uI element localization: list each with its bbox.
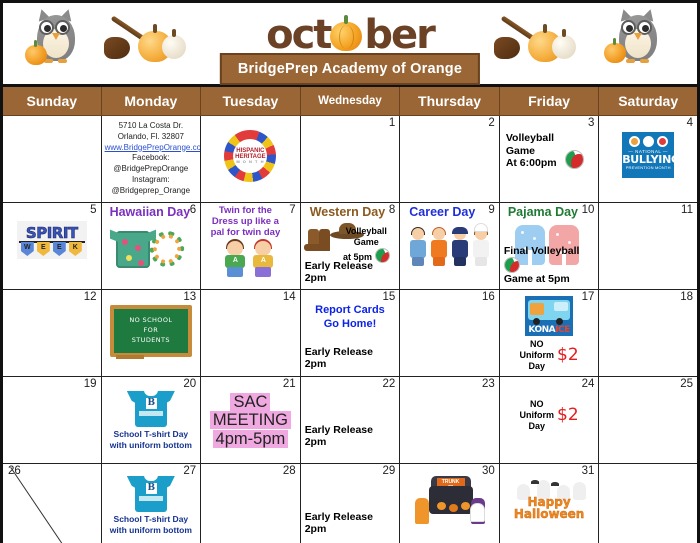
weekday-header-sunday: Sunday (2, 86, 102, 116)
spirit-flag: E (53, 242, 66, 256)
event-note: Final Volleyball (504, 245, 580, 257)
contact-instagram-handle: @Bridgeprep_Orange (105, 186, 198, 197)
contact-address2: Orlando, Fl. 32807 (105, 132, 198, 143)
no-school-line3: STUDENTS (132, 336, 170, 346)
spirit-flag: E (37, 242, 50, 256)
event-line: Volleyball (506, 132, 596, 145)
day-cell-9[interactable]: 9 Career Day (400, 203, 500, 290)
day-cell-25[interactable]: 25 (599, 377, 699, 464)
month-title: octber (266, 15, 434, 55)
spirit-flag: K (69, 242, 82, 256)
event-subnote: Volleyball Game at 5pm (337, 226, 395, 263)
day-cell-2[interactable]: 2 (400, 116, 500, 203)
no-uniform-line: Day (520, 421, 555, 432)
day-cell-school-contact[interactable]: 5710 La Costa Dr. Orlando, Fl. 32807 www… (101, 116, 201, 203)
week-row: 5 SPIRIT W E E K (2, 203, 699, 290)
no-uniform-line: Uniform (520, 410, 555, 421)
event-caption: with uniform bottom (105, 525, 198, 536)
kona-ice-icon: KONAICE (525, 296, 573, 336)
day-cell-24[interactable]: 24 NO Uniform Day $2 (499, 377, 599, 464)
hhm-line3: M O N T H (236, 160, 264, 164)
volleyball-icon (565, 150, 584, 169)
no-uniform-line: Day (520, 361, 555, 372)
hawaiian-shirt-lei-icon (116, 229, 186, 269)
kona-word-b: ICE (555, 325, 570, 335)
event-title: Western Day (304, 206, 397, 220)
owl-pumpkin-icon (615, 9, 661, 65)
day-cell-27[interactable]: 27 B School T-shirt Day with uniform bot… (101, 464, 201, 543)
day-cell-18[interactable]: 18 (599, 290, 699, 377)
bullying-line3: PREVENTION MONTH (622, 165, 674, 170)
contact-facebook-handle: @BridgePrepOrange (105, 164, 198, 175)
day-number: 19 (84, 378, 97, 390)
price-label: $2 (557, 347, 579, 364)
day-number: 14 (283, 291, 296, 303)
national-bullying-prevention-month-icon: — NATIONAL — BULLYING PREVENTION MONTH (622, 132, 674, 178)
day-cell-5[interactable]: 5 SPIRIT W E E K (2, 203, 102, 290)
no-school-line2: FOR (144, 326, 159, 336)
event-note: Game at 5pm (504, 273, 599, 286)
career-people-icon (408, 226, 492, 266)
day-cell-21[interactable]: 21 SAC MEETING 4pm-5pm (201, 377, 301, 464)
calendar-page: octber BridgePrep Academy of Orange (0, 0, 700, 543)
day-cell-28[interactable]: 28 (201, 464, 301, 543)
day-number: 28 (283, 465, 296, 477)
day-cell-13[interactable]: 13 NO SCHOOL FOR STUDENTS (101, 290, 201, 377)
day-number: 12 (84, 291, 97, 303)
spirit-week-top: SPIRIT (17, 224, 87, 242)
calendar-banner: octber BridgePrep Academy of Orange (0, 0, 700, 84)
sac-line: MEETING (210, 411, 291, 429)
no-school-line1: NO SCHOOL (129, 316, 172, 326)
event-title: Career Day (403, 206, 496, 220)
event-note: Early Release (305, 424, 373, 437)
day-cell-3[interactable]: 3 Volleyball Game At 6:00pm (499, 116, 599, 203)
school-tshirt-icon: B (127, 387, 175, 427)
trunk-or-treat-icon: TRUNK or TREAT (413, 476, 487, 524)
day-cell-23[interactable]: 23 (400, 377, 500, 464)
no-uniform-line: Uniform (520, 350, 555, 361)
weekday-header-friday: Friday (499, 86, 599, 116)
weekday-header-monday: Monday (101, 86, 201, 116)
event-caption: with uniform bottom (105, 440, 198, 451)
weekday-header-tuesday: Tuesday (201, 86, 301, 116)
event-caption: School T-shirt Day (105, 429, 198, 440)
weekday-header-wednesday: Wednesday (300, 86, 400, 116)
event-note: 2pm (305, 523, 373, 536)
volleyball-icon (504, 257, 520, 273)
day-cell-empty[interactable] (2, 116, 102, 203)
weekday-header-row: Sunday Monday Tuesday Wednesday Thursday… (2, 86, 699, 116)
week-row: 26 27 B School T-shirt Day with uniform … (2, 464, 699, 543)
day-cell-11[interactable]: 11 (599, 203, 699, 290)
day-cell-16[interactable]: 16 (400, 290, 500, 377)
event-note: Go Home! (304, 318, 397, 332)
school-name-plate: BridgePrep Academy of Orange (220, 53, 480, 85)
day-cell-15[interactable]: 15 Report Cards Go Home! Early Release 2… (300, 290, 400, 377)
no-uniform-line: NO (520, 339, 555, 350)
day-number: 11 (681, 204, 693, 216)
event-note: Early Release (305, 260, 373, 273)
kona-word-a: KONA (528, 325, 555, 335)
event-note: 2pm (305, 436, 373, 449)
bullying-line2: BULLYING (622, 154, 674, 165)
day-number: 23 (482, 378, 495, 390)
event-title: Hawaiian Day (105, 206, 198, 220)
crossed-out-marker (3, 464, 101, 543)
pumpkin-icon (330, 20, 364, 54)
day-cell-12[interactable]: 12 (2, 290, 102, 377)
day-cell-29[interactable]: 29 Early Release 2pm (300, 464, 400, 543)
pumpkin-icon (604, 43, 626, 63)
day-number: 25 (680, 378, 693, 390)
happy-halloween-icon: Happy Halloween (507, 480, 591, 522)
day-cell-30[interactable]: 30 TRUNK or TREAT (400, 464, 500, 543)
day-cell-22[interactable]: 22 Early Release 2pm (300, 377, 400, 464)
contact-website-link[interactable]: www.BridgePrepOrange.com (105, 143, 201, 152)
day-cell-6[interactable]: 6 Hawaiian Day (101, 203, 201, 290)
contact-facebook-label: Facebook: (105, 153, 198, 164)
no-uniform-line: NO (520, 399, 555, 410)
contact-instagram-label: Instagram: (105, 175, 198, 186)
week-row: 12 13 NO SCHOOL FOR STUDENTS (2, 290, 699, 377)
volleyball-icon (375, 248, 390, 263)
event-subnote-line: Volleyball Game (346, 226, 387, 247)
hispanic-heritage-month-icon: HISPANIC HERITAGE M O N T H (224, 130, 276, 182)
day-cell-empty[interactable] (599, 464, 699, 543)
sac-meeting-note: SAC MEETING 4pm-5pm (204, 393, 297, 448)
event-note: Report Cards (304, 304, 397, 318)
spirit-flag: W (21, 242, 34, 256)
sac-line: SAC (230, 393, 270, 411)
day-cell-31[interactable]: 31 Happy (499, 464, 599, 543)
day-number: 16 (482, 291, 495, 303)
event-note: Early Release (305, 346, 373, 359)
day-cell-10[interactable]: 10 Pajama Day Final Volleyball Game at 5… (499, 203, 599, 290)
weekday-header-saturday: Saturday (599, 86, 699, 116)
day-cell-14[interactable]: 14 (201, 290, 301, 377)
event-note: 2pm (305, 272, 373, 285)
school-tshirt-icon: B (127, 472, 175, 512)
week-row: 19 20 B School T-shirt Day with uniform … (2, 377, 699, 464)
day-number: 2 (488, 117, 494, 129)
event-note: Early Release (305, 511, 373, 524)
spirit-week-icon: SPIRIT W E E K (17, 221, 87, 259)
contact-block: 5710 La Costa Dr. Orlando, Fl. 32807 www… (105, 121, 198, 197)
day-cell-8[interactable]: 8 Western Day Volleyball Game at 5pm Ear (300, 203, 400, 290)
twin-kids-icon: A A (218, 241, 282, 277)
day-cell-26[interactable]: 26 (2, 464, 102, 543)
event-caption: School T-shirt Day (105, 514, 198, 525)
week-row: 5710 La Costa Dr. Orlando, Fl. 32807 www… (2, 116, 699, 203)
day-cell-20[interactable]: 20 B School T-shirt Day with uniform bot… (101, 377, 201, 464)
day-cell-19[interactable]: 19 (2, 377, 102, 464)
day-cell-17[interactable]: 17 KONAICE NO Uniform Day $2 (499, 290, 599, 377)
day-cell-7[interactable]: 7 Twin for the Dress up like a pal for t… (201, 203, 301, 290)
day-cell-4[interactable]: 4 — NATIONAL — BULLYING PREVENTION MONTH (599, 116, 699, 203)
day-number: 18 (680, 291, 693, 303)
event-note: 2pm (305, 358, 373, 371)
day-cell-hispanic-heritage[interactable]: HISPANIC HERITAGE M O N T H (201, 116, 301, 203)
calendar-grid: Sunday Monday Tuesday Wednesday Thursday… (0, 84, 700, 543)
price-label: $2 (557, 407, 579, 424)
event-text: Twin for the Dress up like a pal for twi… (206, 206, 285, 239)
contact-address1: 5710 La Costa Dr. (105, 121, 198, 132)
event-title: Pajama Day (503, 206, 596, 220)
weekday-header-thursday: Thursday (400, 86, 500, 116)
day-number: 1 (389, 117, 395, 129)
chalkboard-no-school-icon: NO SCHOOL FOR STUDENTS (110, 305, 192, 357)
halloween-line2: Halloween (514, 507, 585, 521)
day-cell-1[interactable]: 1 (300, 116, 400, 203)
sac-line: 4pm-5pm (213, 430, 289, 448)
